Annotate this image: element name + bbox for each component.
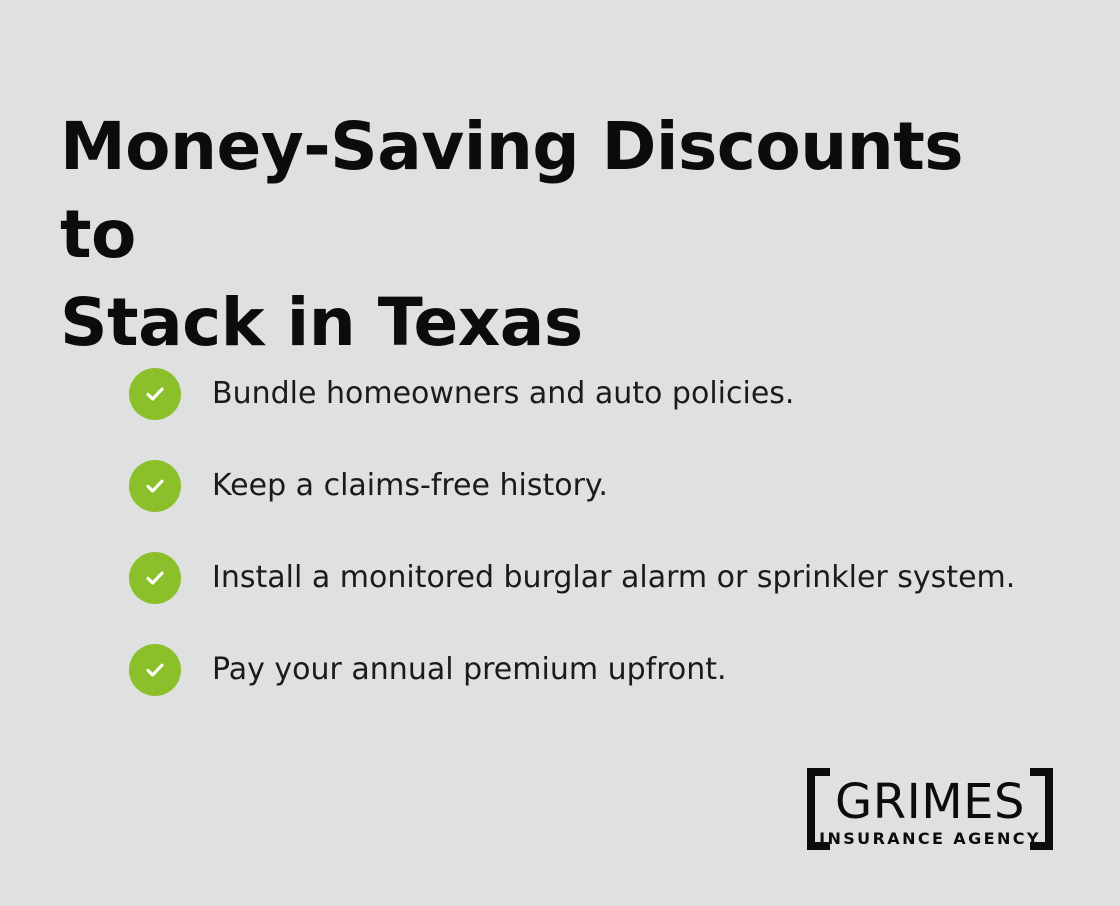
discount-checklist: Bundle homeowners and auto policies. Kee… [129, 368, 1069, 696]
list-item: Pay your annual premium upfront. [129, 644, 1069, 696]
check-icon [129, 368, 181, 420]
slide-canvas: Money-Saving Discounts to Stack in Texas… [0, 0, 1120, 906]
check-icon [129, 644, 181, 696]
grimes-insurance-agency-logo: GRIMES INSURANCE AGENCY [800, 765, 1060, 853]
check-icon [129, 552, 181, 604]
list-item: Install a monitored burglar alarm or spr… [129, 552, 1069, 604]
list-item-label: Keep a claims-free history. [212, 468, 608, 504]
list-item-label: Install a monitored burglar alarm or spr… [212, 560, 1015, 596]
list-item: Bundle homeowners and auto policies. [129, 368, 1069, 420]
list-item-label: Bundle homeowners and auto policies. [212, 376, 794, 412]
logo-tagline: INSURANCE AGENCY [819, 829, 1041, 848]
check-icon [129, 460, 181, 512]
list-item-label: Pay your annual premium upfront. [212, 652, 727, 688]
page-title: Money-Saving Discounts to Stack in Texas [60, 103, 1020, 367]
list-item: Keep a claims-free history. [129, 460, 1069, 512]
logo-wordmark: GRIMES [835, 774, 1025, 830]
